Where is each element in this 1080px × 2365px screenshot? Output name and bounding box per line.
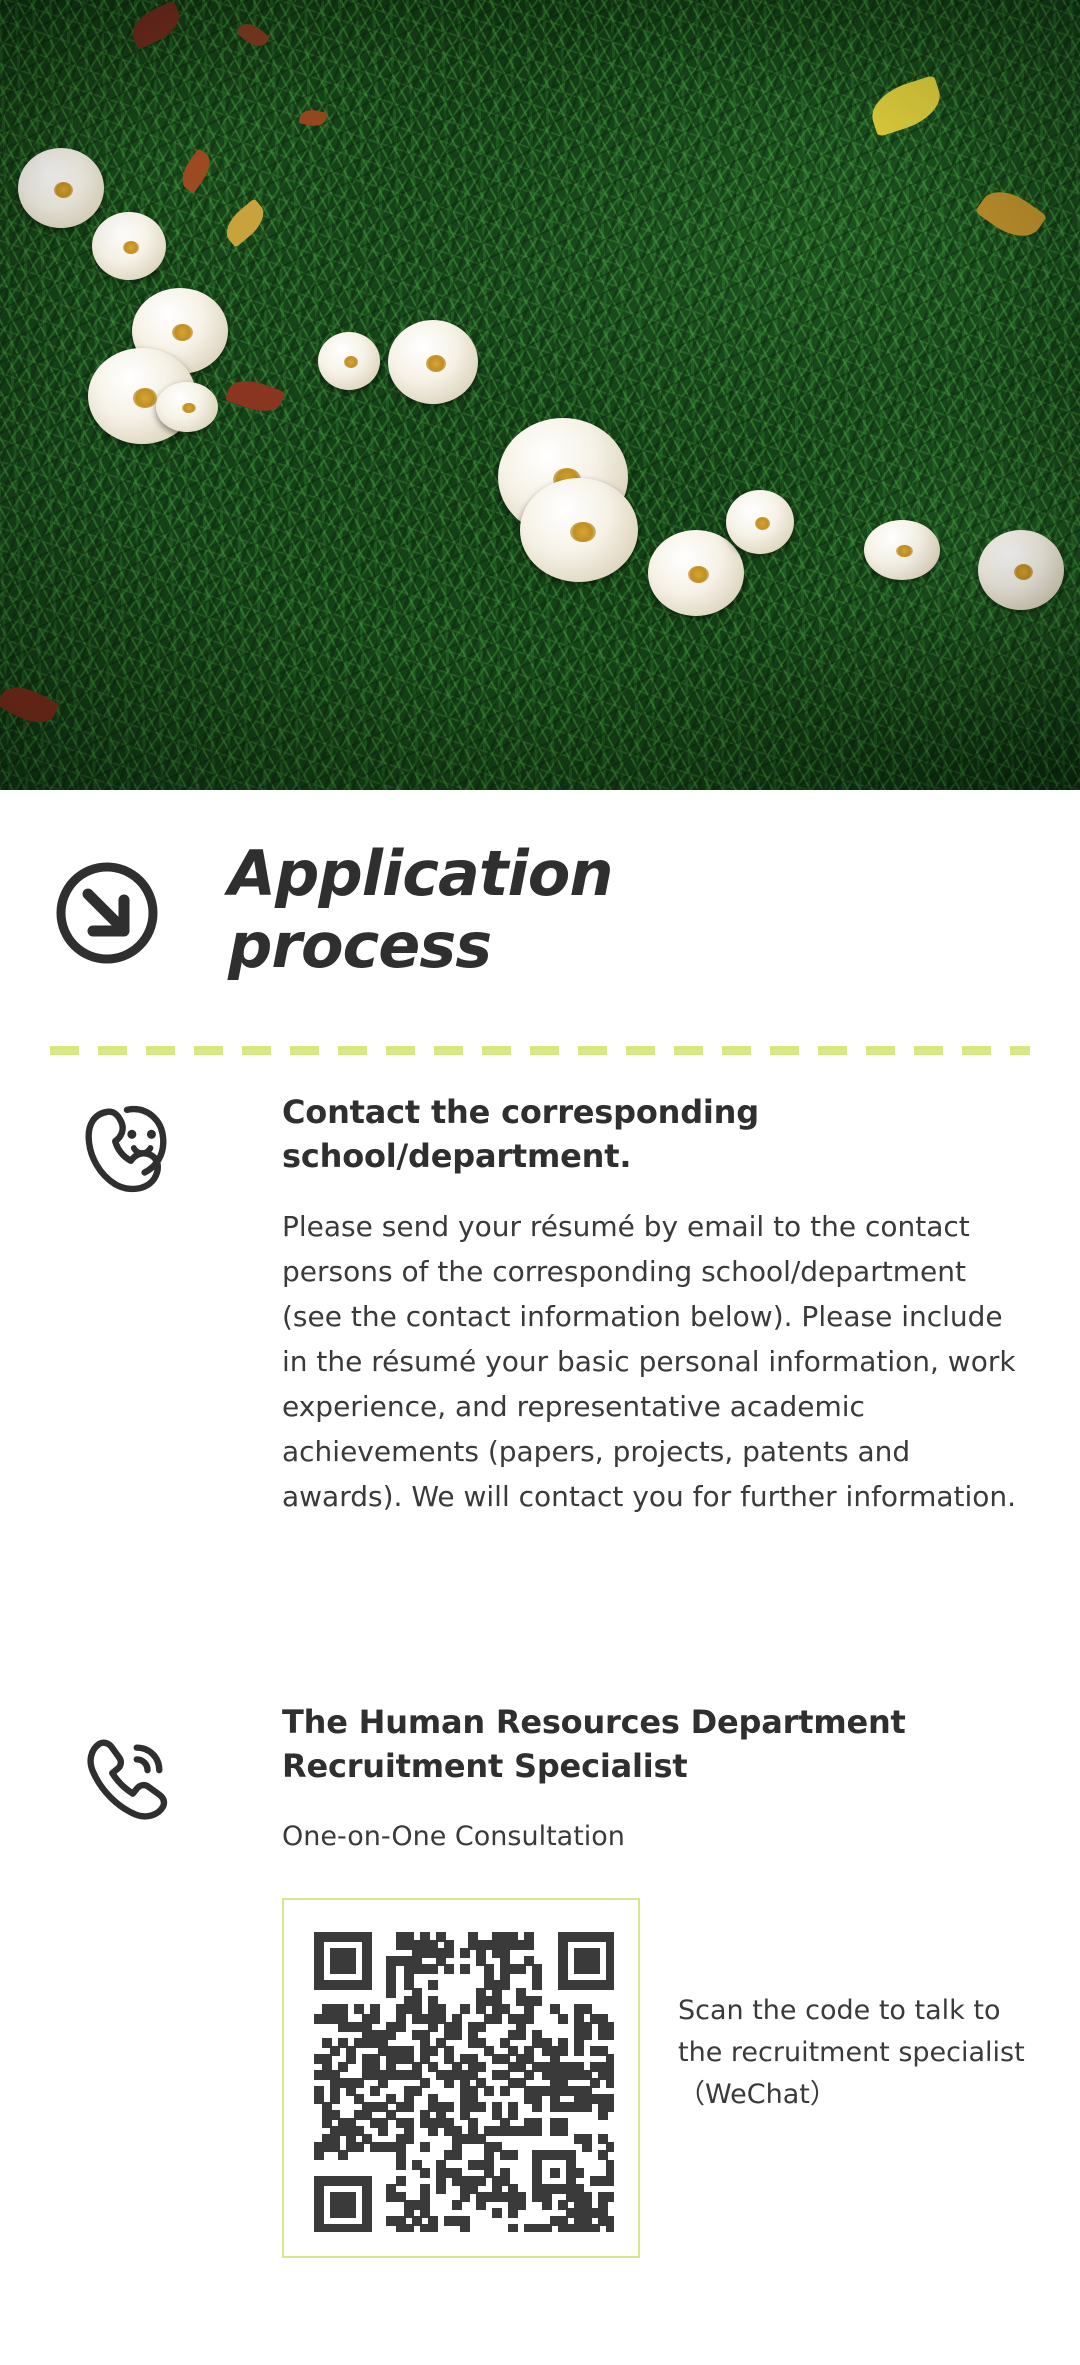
wechat-recruitment-qr-code[interactable] bbox=[314, 1932, 614, 2232]
hero-vignette bbox=[0, 0, 1080, 790]
qr-code-frame[interactable] bbox=[282, 1898, 640, 2258]
phone-signal-icon bbox=[78, 1730, 172, 1824]
phone-smiley-icon bbox=[78, 1102, 172, 1196]
section-hr-heading: The Human Resources Department Recruitme… bbox=[282, 1700, 1022, 1788]
section-hr-subtext: One-on-One Consultation bbox=[282, 1818, 1022, 1856]
section-contact-text: Please send your résumé by email to the … bbox=[282, 1204, 1022, 1519]
qr-row: Scan the code to talk to the recruitment… bbox=[0, 1898, 1080, 2278]
section-contact-body: Contact the corresponding school/departm… bbox=[282, 1090, 1022, 1519]
page-title-line-1: Application bbox=[228, 838, 928, 910]
arrow-down-right-circle-icon bbox=[52, 858, 162, 968]
hero-photo bbox=[0, 0, 1080, 790]
page-header: Application process bbox=[0, 790, 1080, 1040]
dashed-divider bbox=[50, 1046, 1030, 1055]
application-process-page: Application process Contact the correspo… bbox=[0, 0, 1080, 2365]
page-title: Application process bbox=[228, 838, 928, 982]
page-title-line-2: process bbox=[228, 910, 928, 982]
qr-caption: Scan the code to talk to the recruitment… bbox=[678, 1990, 1048, 2116]
section-contact-heading: Contact the corresponding school/departm… bbox=[282, 1090, 1022, 1178]
section-hr-body: The Human Resources Department Recruitme… bbox=[282, 1700, 1022, 1856]
